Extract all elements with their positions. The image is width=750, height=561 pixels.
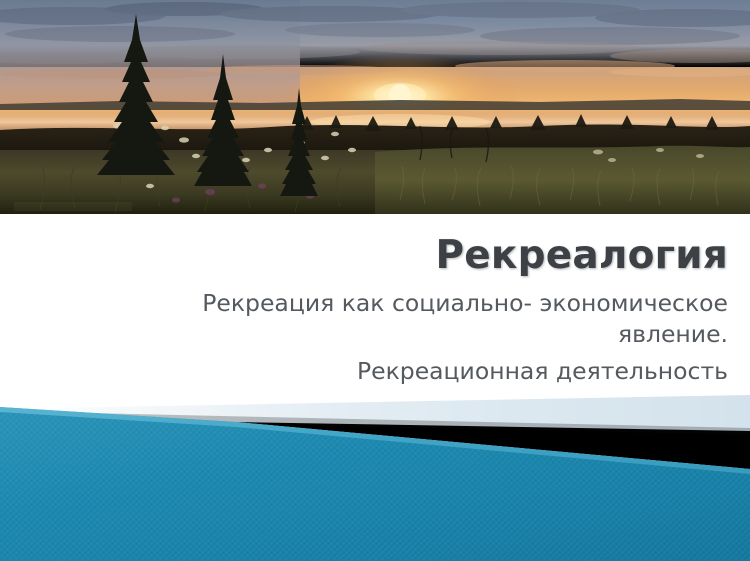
slide-title: Рекреалогия <box>436 236 729 277</box>
presentation-slide: Рекреалогия Рекреация как социально- эко… <box>0 0 750 561</box>
sunset-meadow-spruce-photo <box>0 0 750 214</box>
slide-subtitle-line-1: Рекреация как социально- экономическое я… <box>128 288 728 351</box>
footer-shapes <box>0 395 750 561</box>
photo-watermark <box>14 202 132 211</box>
photo-artwork <box>0 0 750 214</box>
slide-footer-decoration <box>0 395 750 561</box>
slide-text-block: Рекреалогия Рекреация как социально- эко… <box>0 214 750 414</box>
slide-subtitle-line-2: Рекреационная деятельность <box>357 356 728 387</box>
